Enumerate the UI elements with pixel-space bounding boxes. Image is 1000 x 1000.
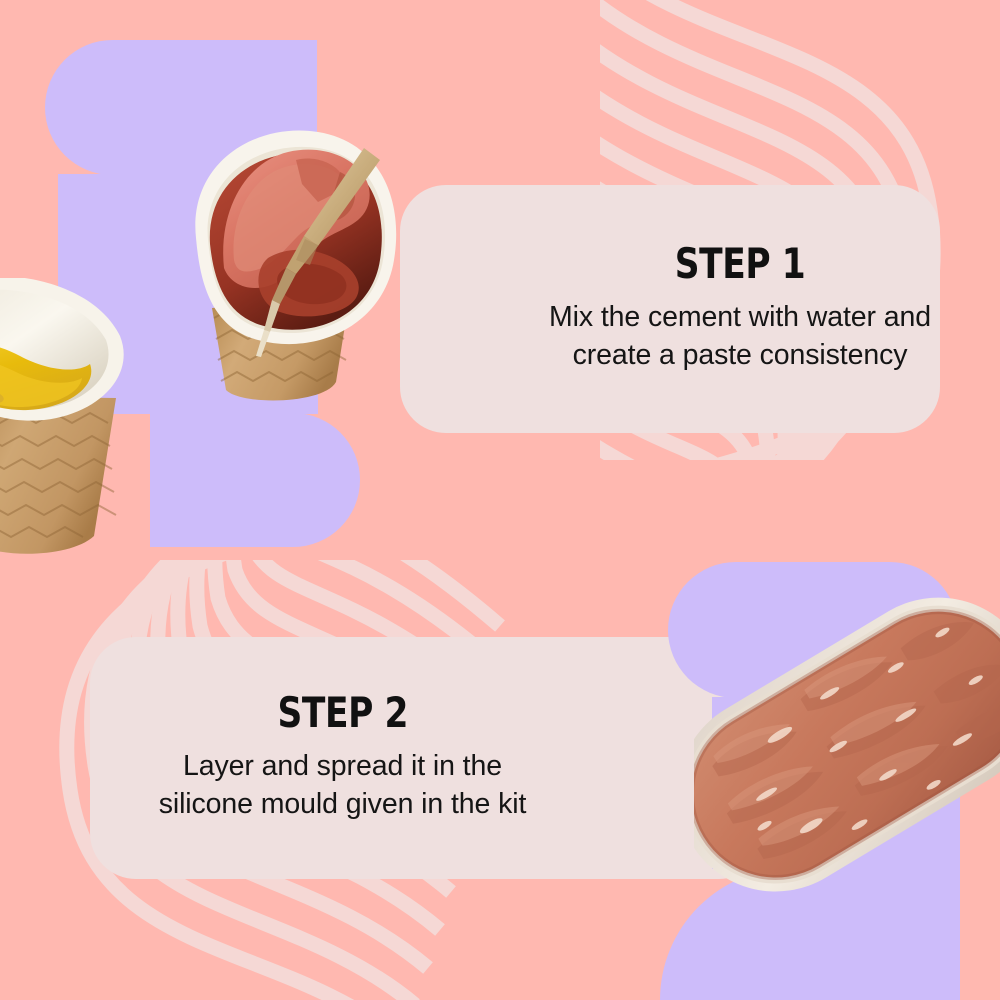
step-card-1-content: STEP 1 Mix the cement with water and cre… — [409, 243, 931, 375]
step-1-body-line-2: create a paste consistency — [549, 337, 931, 375]
step-2-heading: STEP 2 — [192, 692, 493, 734]
step-2-body-line-1: Layer and spread it in the — [159, 748, 527, 786]
step-2-body-line-2: silicone mould given in the kit — [159, 786, 527, 824]
step-1-heading: STEP 1 — [583, 243, 896, 285]
step-2-body: Layer and spread it in the silicone moul… — [159, 748, 527, 824]
step-1-body-line-1: Mix the cement with water and — [549, 299, 931, 337]
step-card-1: STEP 1 Mix the cement with water and cre… — [400, 185, 940, 433]
poster-canvas: STEP 1 Mix the cement with water and cre… — [0, 0, 1000, 1000]
photo-cup-terracotta — [168, 118, 403, 403]
photo-mould — [694, 568, 1000, 928]
step-1-body: Mix the cement with water and create a p… — [549, 299, 931, 375]
purple-shape-mid-left-stadium — [150, 413, 360, 547]
step-card-2: STEP 2 Layer and spread it in the silico… — [90, 637, 765, 879]
photo-cup-yellow — [0, 278, 163, 556]
step-card-2-content: STEP 2 Layer and spread it in the silico… — [159, 692, 697, 824]
